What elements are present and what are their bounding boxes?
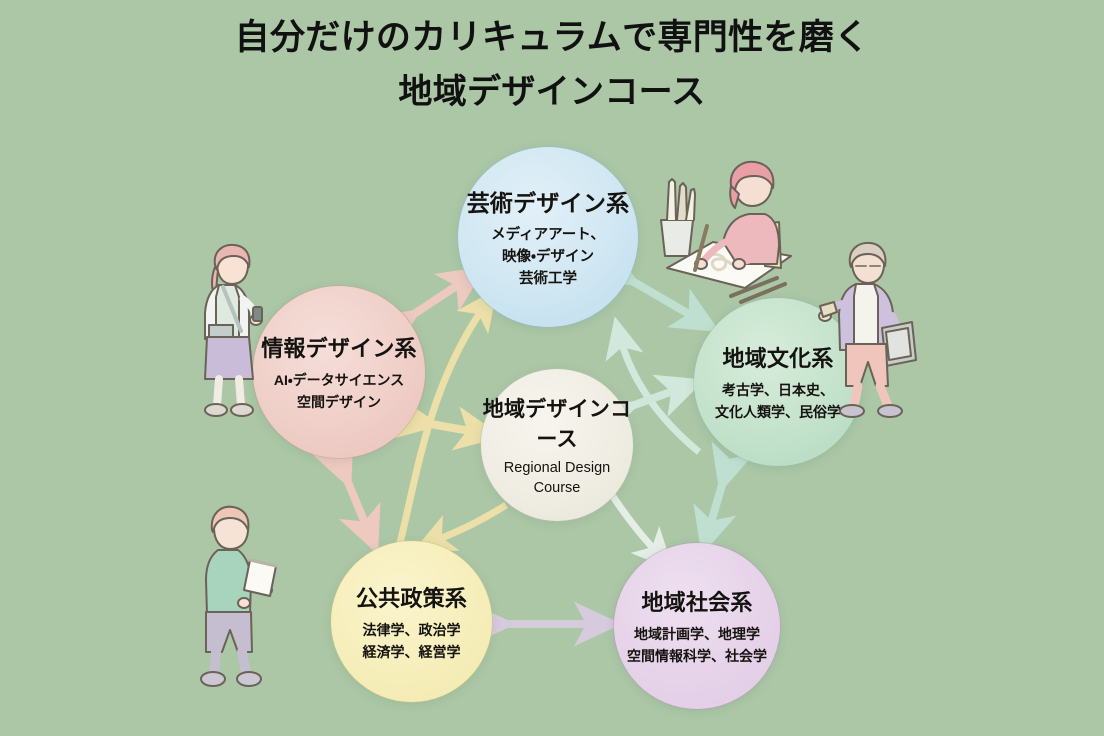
node-regional-society-subjects: 地域計画学、地理学 空間情報科学、社会学 — [627, 623, 767, 667]
title-line-1: 自分だけのカリキュラムで専門性を磨く — [0, 14, 1104, 62]
arrow-culture-center — [626, 385, 690, 408]
node-regional-society[interactable]: 地域社会系 地域計画学、地理学 空間情報科学、社会学 — [614, 543, 780, 709]
diagram-canvas: 自分だけのカリキュラムで専門性を磨く 地域デザインコース — [0, 0, 1104, 736]
node-center-title: 地域デザインコース — [481, 393, 633, 453]
arrow-info-policy — [345, 475, 372, 540]
node-center-regional-design-course[interactable]: 地域デザインコース Regional Design Course — [481, 369, 633, 521]
arrow-culture-society — [706, 478, 724, 540]
node-information-design-title: 情報デザイン系 — [261, 331, 417, 363]
illustration-person-with-clipboard — [192, 502, 292, 692]
illustration-woman-with-phone — [183, 243, 283, 423]
node-regional-society-title: 地域社会系 — [641, 585, 752, 617]
arrow-info-center — [425, 423, 487, 434]
illustration-designer-at-desk — [645, 160, 820, 310]
title-line-2: 地域デザインコース — [0, 68, 1104, 116]
arrow-center-to-society — [612, 495, 664, 560]
node-art-design-subjects: メディアアート、 映像・デザイン 芸術工学 — [491, 224, 605, 290]
node-public-policy-title: 公共政策系 — [356, 581, 467, 613]
page-title: 自分だけのカリキュラムで専門性を磨く 地域デザインコース — [0, 14, 1104, 116]
node-center-subtitle: Regional Design Course — [481, 458, 633, 498]
node-art-design[interactable]: 芸術デザイン系 メディアアート、 映像・デザイン 芸術工学 — [458, 147, 638, 327]
node-public-policy[interactable]: 公共政策系 法律学、政治学 経済学、経営学 — [331, 541, 492, 702]
node-information-design-subjects: AI・データサイエンス 空間デザイン — [274, 369, 404, 413]
arrow-info-art — [408, 275, 473, 318]
arrow-center-to-policy — [426, 505, 506, 545]
node-public-policy-subjects: 法律学、政治学 経済学、経営学 — [363, 619, 461, 663]
node-art-design-title: 芸術デザイン系 — [467, 184, 630, 218]
node-regional-culture-title: 地域文化系 — [722, 341, 833, 373]
illustration-person-walking-with-laptop — [818, 240, 923, 425]
